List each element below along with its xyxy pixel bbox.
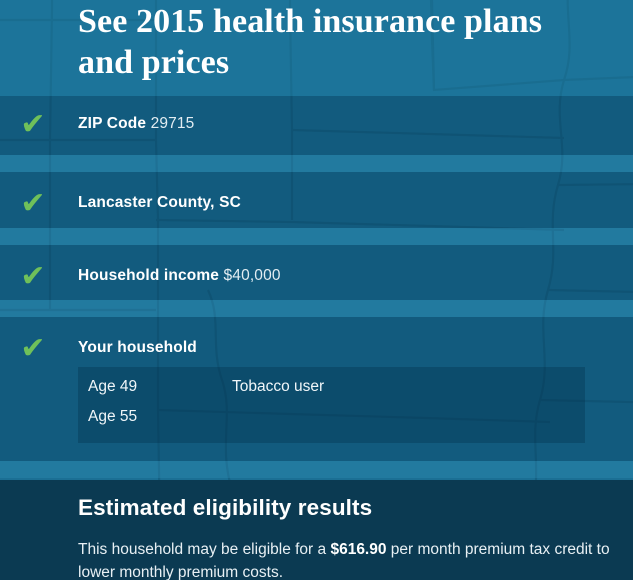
check-mark-icon: ✔ [18,265,48,291]
row-separator [0,300,633,317]
member-age: Age 49 [88,376,232,398]
member-age: Age 55 [88,406,232,428]
summary-row-household-income[interactable]: ✔ Household income $40,000 [0,245,633,300]
summary-row-your-household[interactable]: ✔ Your household Age 49 Tobacco user Age… [0,317,633,461]
summary-row-zip-code[interactable]: ✔ ZIP Code 29715 [0,96,633,155]
household-member-row: Age 55 [88,406,585,436]
page-header: See 2015 health insurance plans and pric… [0,0,633,96]
estimated-eligibility-results-section: Estimated eligibility results This house… [0,480,633,580]
household-income-value: $40,000 [224,267,281,284]
check-mark-icon: ✔ [18,337,48,363]
row-separator [0,228,633,245]
summary-row-your-household-label: Your household [78,337,197,359]
row-separator [0,155,633,172]
page-title: See 2015 health insurance plans and pric… [78,1,548,83]
check-mark-icon: ✔ [18,113,48,139]
member-tobacco-status: Tobacco user [232,376,324,398]
check-mark-icon: ✔ [18,192,48,218]
results-text-before: This household may be eligible for a [78,541,330,558]
summary-rows: ✔ ZIP Code 29715 ✔ Lancaster County, SC … [0,96,633,478]
county-label: Lancaster County, SC [78,194,241,211]
summary-row-county[interactable]: ✔ Lancaster County, SC [0,172,633,228]
eligibility-results-page: See 2015 health insurance plans and pric… [0,0,633,580]
summary-row-household-income-label: Household income $40,000 [78,265,281,287]
results-heading: Estimated eligibility results [78,494,372,522]
zip-code-value: 29715 [151,115,195,132]
household-members-panel: Age 49 Tobacco user Age 55 [78,367,585,443]
household-member-row: Age 49 Tobacco user [88,376,585,406]
household-income-label: Household income [78,267,219,284]
premium-tax-credit-amount: $616.90 [330,541,386,558]
summary-row-county-label: Lancaster County, SC [78,192,241,214]
your-household-label: Your household [78,339,197,356]
results-description: This household may be eligible for a $61… [78,538,626,580]
zip-code-label: ZIP Code [78,115,146,132]
summary-row-zip-code-label: ZIP Code 29715 [78,113,194,135]
row-separator [0,461,633,478]
